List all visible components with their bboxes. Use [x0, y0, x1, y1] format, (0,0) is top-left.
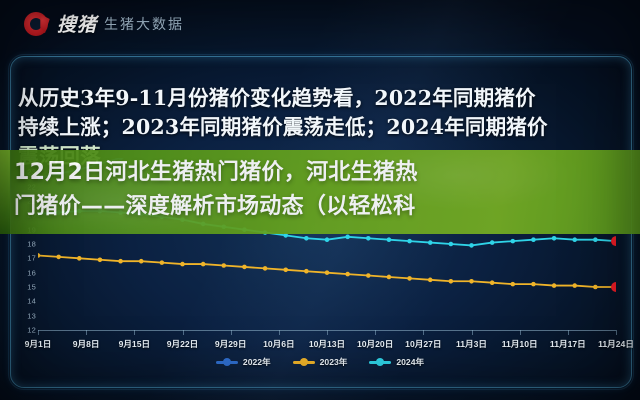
- chart-x-axis-labels: 9月1日9月8日9月15日9月22日9月29日10月6日10月13日10月20日…: [12, 338, 628, 354]
- chart-point: [428, 278, 433, 283]
- chart-highlight-marker: [611, 282, 616, 292]
- overlay-title-text: 12月2日河北生猪热门猪价，河北生猪热 门猪价——深度解析市场动态（以轻松科: [14, 156, 630, 224]
- brand-logo: 搜猪 生猪大数据: [24, 10, 184, 37]
- x-axis-tick-label: 10月6日: [263, 338, 295, 350]
- chart-point: [56, 255, 61, 260]
- chart-point: [510, 239, 515, 244]
- chart-point: [593, 285, 598, 290]
- x-axis-tick-label: 10月13日: [309, 338, 345, 350]
- x-axis-tick-mark: [616, 330, 617, 335]
- legend-label: 2022年: [243, 356, 271, 368]
- chart-point: [325, 237, 330, 242]
- x-axis-tick-label: 9月8日: [73, 338, 100, 350]
- overlay-left-accent: [0, 150, 10, 234]
- y-axis-tick-label: 17: [12, 254, 36, 263]
- chart-point: [325, 270, 330, 275]
- chart-point: [572, 237, 577, 242]
- y-axis-tick-label: 16: [12, 268, 36, 277]
- chart-point: [98, 257, 103, 262]
- chart-point: [366, 236, 371, 241]
- app-header: 搜猪 生猪大数据: [0, 0, 640, 48]
- chart-point: [510, 282, 515, 287]
- x-axis-tick-mark: [375, 330, 376, 335]
- chart-point: [552, 283, 557, 288]
- chart-point: [469, 243, 474, 248]
- x-axis-tick-mark: [279, 330, 280, 335]
- x-axis-tick-label: 9月29日: [215, 338, 247, 350]
- chart-point: [139, 259, 144, 264]
- overlay-title-line-1: 12月2日河北生猪热门猪价，河北生猪热: [14, 156, 630, 190]
- chart-point: [449, 279, 454, 284]
- brand-name: 搜猪: [57, 10, 97, 37]
- chart-legend: 2022年2023年2024年: [12, 356, 628, 368]
- chart-point: [221, 263, 226, 268]
- chart-point: [407, 276, 412, 281]
- chart-point: [242, 265, 247, 270]
- sogou-pig-logo-icon: [24, 11, 50, 37]
- chart-point: [263, 266, 268, 271]
- y-axis-tick-label: 12: [12, 326, 36, 335]
- chart-point: [552, 236, 557, 241]
- chart-point: [345, 235, 350, 240]
- legend-swatch: [369, 361, 391, 364]
- chart-point: [531, 237, 536, 242]
- chart-point: [490, 240, 495, 245]
- x-axis-tick-label: 9月1日: [25, 338, 52, 350]
- x-axis-tick-label: 11月3日: [456, 338, 487, 350]
- chart-point: [469, 279, 474, 284]
- x-axis-tick-mark: [86, 330, 87, 335]
- chart-highlight-marker: [611, 236, 616, 246]
- x-axis-tick-mark: [327, 330, 328, 335]
- legend-label: 2024年: [396, 356, 424, 368]
- y-axis-tick-label: 13: [12, 311, 36, 320]
- chart-point: [345, 272, 350, 277]
- chart-point: [407, 239, 412, 244]
- chart-point: [283, 268, 288, 273]
- x-axis-tick-mark: [423, 330, 424, 335]
- screenshot-root: 搜猪 生猪大数据 从历史3年9-11月份猪价变化趋势看，2022年同期猪价 持续…: [0, 0, 640, 400]
- x-axis-tick-mark: [520, 330, 521, 335]
- chart-point: [428, 240, 433, 245]
- y-axis-tick-label: 15: [12, 283, 36, 292]
- chart-point: [387, 237, 392, 242]
- chart-point: [366, 273, 371, 278]
- chart-point: [38, 253, 40, 258]
- x-axis-tick-mark: [183, 330, 184, 335]
- x-axis-tick-mark: [231, 330, 232, 335]
- chart-point: [77, 256, 82, 261]
- x-axis-tick-label: 9月22日: [167, 338, 199, 350]
- article-title-overlay: 12月2日河北生猪热门猪价，河北生猪热 门猪价——深度解析市场动态（以轻松科: [0, 150, 640, 234]
- chart-point: [160, 260, 165, 265]
- chart-point: [304, 236, 309, 241]
- chart-point: [572, 283, 577, 288]
- x-axis-tick-mark: [38, 330, 39, 335]
- legend-item-2024年[interactable]: 2024年: [369, 356, 424, 368]
- chart-point: [593, 237, 598, 242]
- legend-label: 2023年: [320, 356, 348, 368]
- chart-point: [201, 262, 206, 267]
- chart-point: [490, 280, 495, 285]
- legend-item-2022年[interactable]: 2022年: [216, 356, 271, 368]
- overlay-title-line-2: 门猪价——深度解析市场动态（以轻松科: [14, 190, 630, 224]
- x-axis-tick-label: 11月10日: [502, 338, 538, 350]
- headline-line-1: 从历史3年9-11月份猪价变化趋势看，2022年同期猪价: [18, 84, 624, 113]
- legend-swatch: [216, 361, 238, 364]
- chart-point: [387, 275, 392, 280]
- chart-point: [118, 259, 123, 264]
- legend-item-2023年[interactable]: 2023年: [293, 356, 348, 368]
- brand-subtitle: 生猪大数据: [104, 14, 184, 34]
- x-axis-tick-mark: [134, 330, 135, 335]
- x-axis-tick-mark: [568, 330, 569, 335]
- headline-line-2: 持续上涨；2023年同期猪价震荡走低；2024年同期猪价: [18, 113, 624, 142]
- x-axis-tick-label: 9月15日: [119, 338, 151, 350]
- chart-point: [304, 269, 309, 274]
- x-axis-tick-label: 10月27日: [405, 338, 441, 350]
- x-axis-tick-mark: [472, 330, 473, 335]
- x-axis-tick-label: 11月17日: [550, 338, 586, 350]
- legend-swatch: [293, 361, 315, 364]
- chart-point: [449, 242, 454, 247]
- chart-point: [180, 262, 185, 267]
- x-axis-tick-label: 11月24日: [598, 338, 634, 350]
- x-axis-tick-label: 10月20日: [357, 338, 393, 350]
- chart-point: [531, 282, 536, 287]
- y-axis-tick-label: 18: [12, 240, 36, 249]
- y-axis-tick-label: 14: [12, 297, 36, 306]
